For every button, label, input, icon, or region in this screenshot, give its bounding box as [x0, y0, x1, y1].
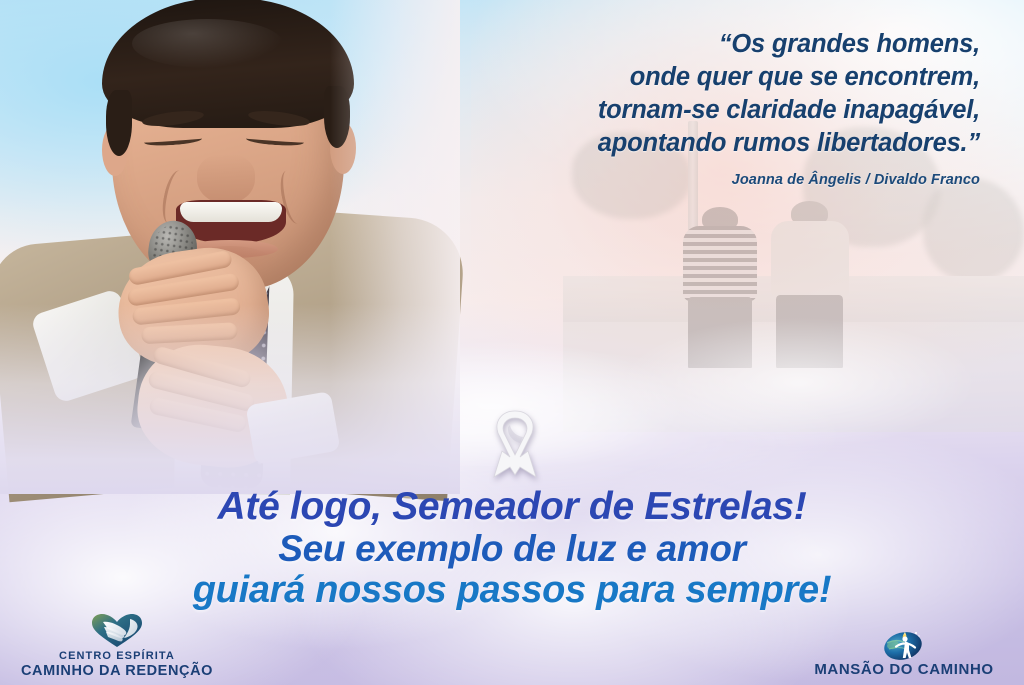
quote-author: Joanna de Ângelis / Divaldo Franco: [420, 172, 980, 188]
message-line-1: Até logo, Semeador de Estrelas!: [0, 486, 1024, 528]
mourning-ribbon-icon: [480, 405, 550, 485]
memorial-message: Até logo, Semeador de Estrelas! Seu exem…: [0, 486, 1024, 611]
quote-line-4: apontando rumos libertadores.”: [420, 127, 980, 160]
message-line-2: Seu exemplo de luz e amor: [0, 528, 1024, 569]
quote-text: “Os grandes homens, onde quer que se enc…: [420, 28, 980, 160]
logo-mansao-do-caminho: MANSÃO DO CAMINHO: [796, 623, 1012, 679]
memorial-poster: “Os grandes homens, onde quer que se enc…: [0, 0, 1024, 685]
quote-line-3: tornam-se claridade inapagável,: [420, 94, 980, 127]
quote-line-2: onde quer que se encontrem,: [420, 61, 980, 94]
hands-heart-icon: [12, 611, 222, 649]
logo-right-line-2: MANSÃO DO CAMINHO: [796, 662, 1012, 679]
portrait-divaldo-franco: [0, 0, 460, 494]
globe-figure-icon: [796, 623, 1012, 661]
message-line-3: guiará nossos passos para sempre!: [0, 569, 1024, 611]
logo-centro-espirita: CENTRO ESPÍRITA CAMINHO DA REDENÇÃO: [12, 611, 222, 679]
hair: [102, 0, 354, 128]
logo-left-line-2: CAMINHO DA REDENÇÃO: [12, 663, 222, 679]
quote-line-1: “Os grandes homens,: [420, 28, 980, 61]
logo-left-line-1: CENTRO ESPÍRITA: [12, 650, 222, 662]
